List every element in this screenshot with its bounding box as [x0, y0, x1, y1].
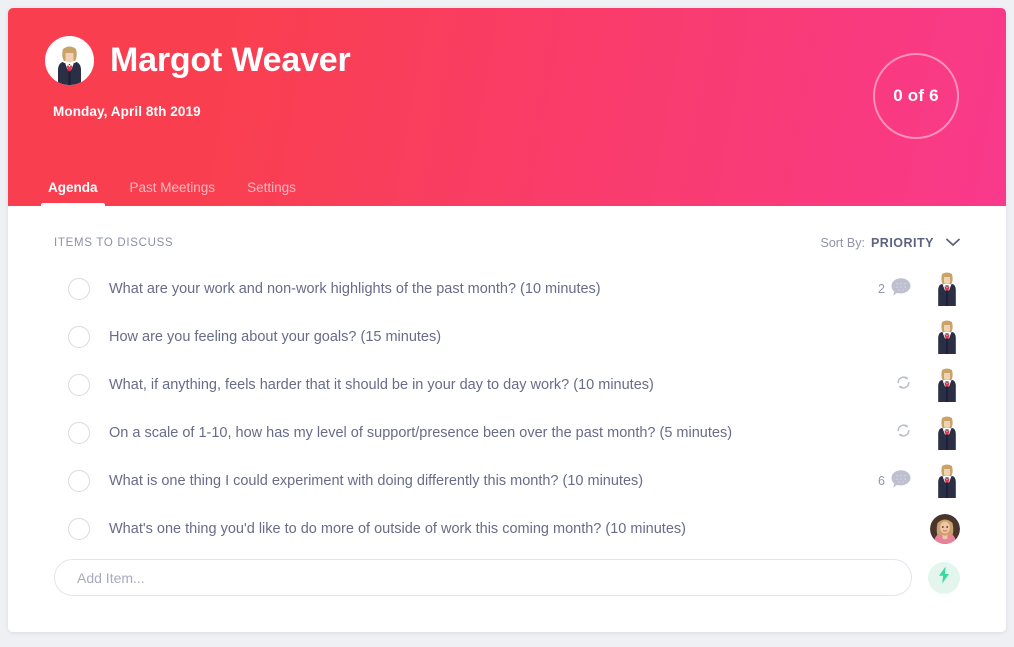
item-meta — [840, 514, 960, 544]
table-row[interactable]: What's one thing you'd like to do more o… — [54, 505, 960, 553]
page-header: Margot Weaver Monday, April 8th 2019 0 o… — [8, 8, 1006, 206]
comment-group[interactable]: 6 — [878, 469, 912, 494]
item-checkbox[interactable] — [68, 326, 90, 348]
sort-by-label: Sort By: — [820, 236, 864, 250]
lightning-bolt-icon — [937, 566, 951, 589]
item-checkbox[interactable] — [68, 374, 90, 396]
repeat-icon — [895, 374, 912, 396]
table-row[interactable]: How are you feeling about your goals? (1… — [54, 313, 960, 361]
progress-ring: 0 of 6 — [873, 53, 959, 139]
tab-agenda[interactable]: Agenda — [32, 180, 114, 206]
comment-count: 2 — [878, 282, 885, 296]
item-checkbox[interactable] — [68, 518, 90, 540]
meeting-agenda-card: Margot Weaver Monday, April 8th 2019 0 o… — [8, 8, 1006, 632]
tab-settings-label: Settings — [247, 180, 296, 195]
table-row[interactable]: What, if anything, feels harder that it … — [54, 361, 960, 409]
table-row[interactable]: On a scale of 1-10, how has my level of … — [54, 409, 960, 457]
item-checkbox[interactable] — [68, 278, 90, 300]
item-meta — [840, 416, 960, 450]
sort-by-value: PRIORITY — [871, 236, 934, 250]
item-avatar — [934, 320, 960, 354]
progress-count: 0 of 6 — [893, 86, 939, 106]
tab-past-meetings[interactable]: Past Meetings — [114, 180, 232, 206]
comment-count: 6 — [878, 474, 885, 488]
table-row[interactable]: What is one thing I could experiment wit… — [54, 457, 960, 505]
item-meta — [840, 368, 960, 402]
list-header: ITEMS TO DISCUSS Sort By: PRIORITY — [54, 206, 960, 252]
item-avatar — [934, 464, 960, 498]
tab-bar: Agenda Past Meetings Settings — [32, 180, 312, 206]
item-checkbox[interactable] — [68, 422, 90, 444]
item-text: What, if anything, feels harder that it … — [109, 377, 840, 393]
table-row[interactable]: What are your work and non-work highligh… — [54, 265, 960, 313]
item-text: What is one thing I could experiment wit… — [109, 473, 840, 489]
tab-settings[interactable]: Settings — [231, 180, 312, 206]
page-title: Margot Weaver — [110, 41, 351, 80]
agenda-item-list: What are your work and non-work highligh… — [54, 265, 960, 553]
item-meta — [840, 320, 960, 354]
item-avatar — [934, 368, 960, 402]
chevron-down-icon — [946, 234, 960, 252]
add-item-input[interactable] — [54, 559, 912, 596]
item-avatar — [934, 416, 960, 450]
item-text: On a scale of 1-10, how has my level of … — [109, 425, 840, 441]
comment-group[interactable]: 2 — [878, 277, 912, 302]
tab-past-meetings-label: Past Meetings — [130, 180, 216, 195]
item-meta: 6 — [840, 464, 960, 498]
item-text: What are your work and non-work highligh… — [109, 281, 840, 297]
item-checkbox[interactable] — [68, 470, 90, 492]
meeting-date: Monday, April 8th 2019 — [53, 104, 201, 119]
header-identity: Margot Weaver — [8, 8, 1006, 85]
item-avatar — [930, 514, 960, 544]
item-meta: 2 — [840, 272, 960, 306]
comment-bubble-icon — [890, 469, 912, 494]
item-text: What's one thing you'd like to do more o… — [109, 521, 840, 537]
comment-bubble-icon — [890, 277, 912, 302]
tab-agenda-label: Agenda — [48, 180, 98, 195]
agenda-body: ITEMS TO DISCUSS Sort By: PRIORITY What … — [8, 206, 1006, 632]
quick-add-button[interactable] — [928, 562, 960, 594]
add-item-row — [54, 559, 960, 596]
item-avatar — [934, 272, 960, 306]
item-text: How are you feeling about your goals? (1… — [109, 329, 840, 345]
section-title: ITEMS TO DISCUSS — [54, 237, 173, 249]
avatar — [45, 36, 94, 85]
sort-by-control[interactable]: Sort By: PRIORITY — [820, 234, 960, 252]
repeat-icon — [895, 422, 912, 444]
